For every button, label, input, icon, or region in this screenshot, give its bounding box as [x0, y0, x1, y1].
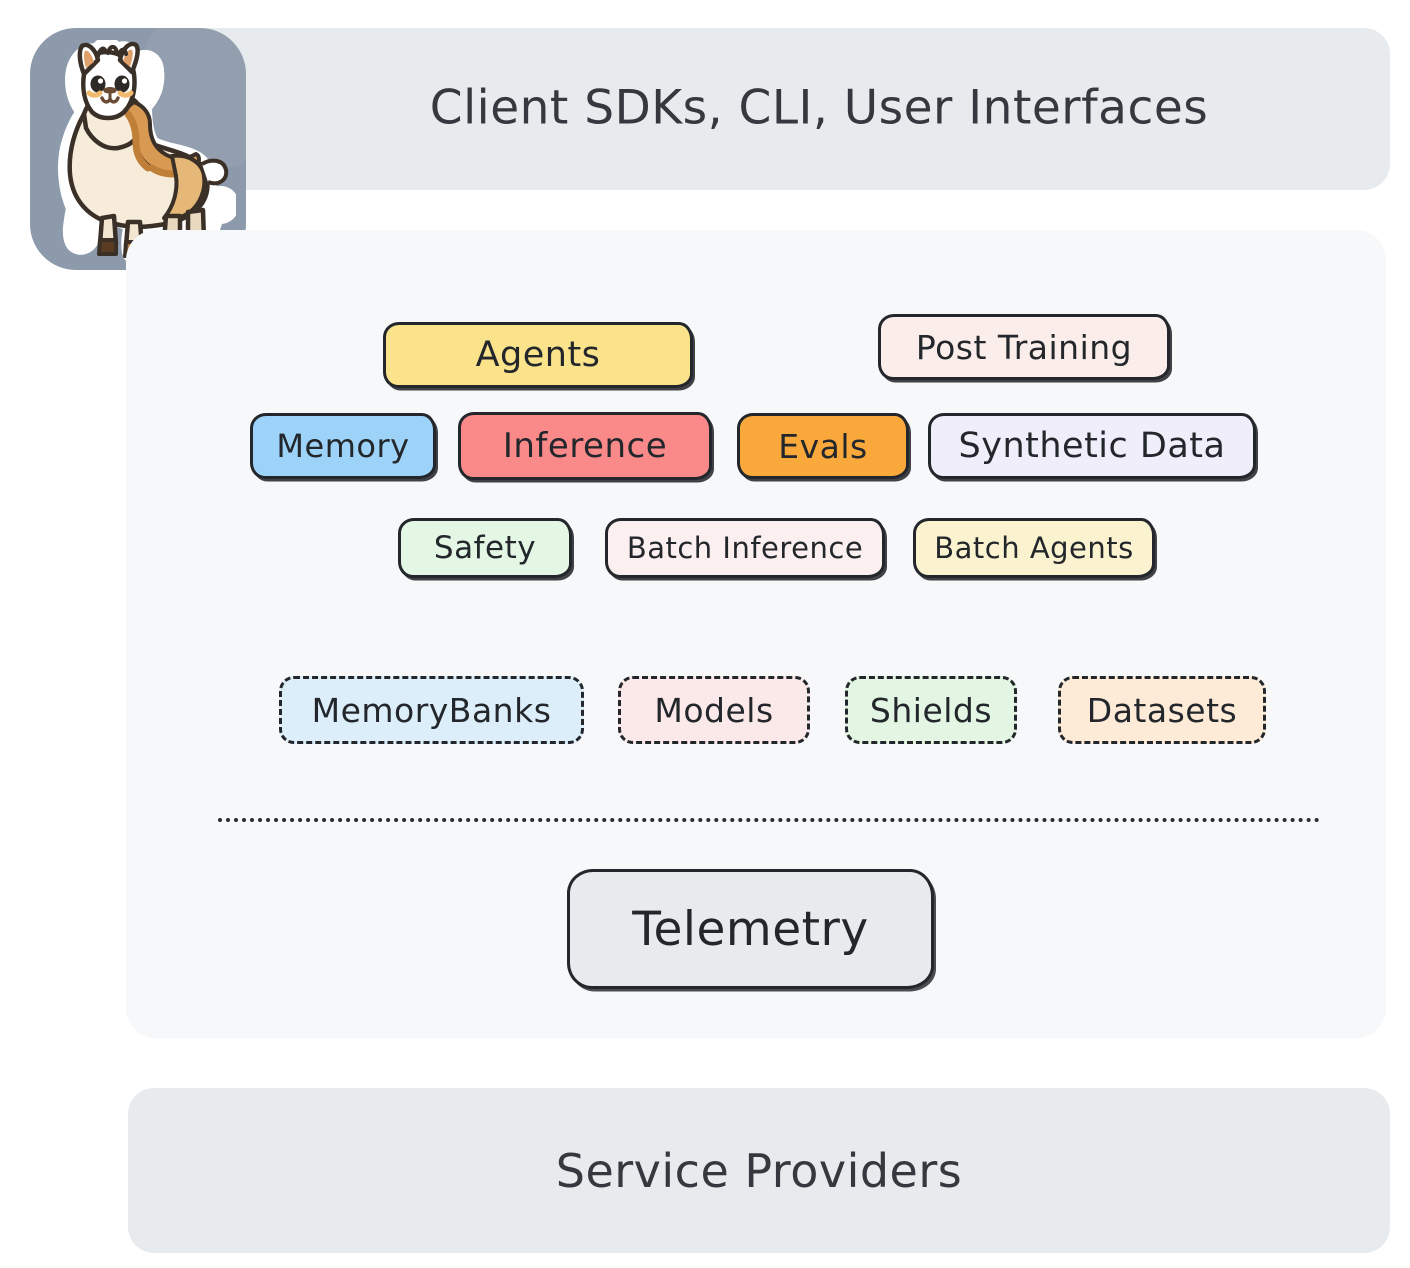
section-divider: [218, 818, 1320, 822]
api-box-batch-agents[interactable]: Batch Agents: [913, 518, 1155, 578]
api-box-synthetic-data-label: Synthetic Data: [959, 426, 1226, 466]
telemetry-label: Telemetry: [632, 902, 868, 957]
telemetry-box[interactable]: Telemetry: [567, 869, 934, 989]
client-interfaces-label: Client SDKs, CLI, User Interfaces: [128, 80, 1390, 135]
api-box-safety-label: Safety: [434, 530, 536, 566]
resource-box-shields[interactable]: Shields: [845, 676, 1017, 744]
resource-box-datasets[interactable]: Datasets: [1058, 676, 1266, 744]
resource-box-shields-label: Shields: [870, 691, 992, 730]
api-box-safety[interactable]: Safety: [398, 518, 572, 578]
api-box-inference-label: Inference: [503, 426, 667, 466]
api-box-batch-inference[interactable]: Batch Inference: [605, 518, 885, 578]
api-box-post-training-label: Post Training: [916, 328, 1132, 367]
api-box-agents-label: Agents: [476, 335, 601, 375]
api-box-memory-label: Memory: [276, 427, 409, 465]
api-box-inference[interactable]: Inference: [458, 412, 712, 480]
llama-icon: [40, 40, 236, 262]
api-box-batch-inference-label: Batch Inference: [627, 531, 863, 565]
resource-box-datasets-label: Datasets: [1087, 691, 1237, 730]
api-box-agents[interactable]: Agents: [383, 322, 693, 388]
api-box-evals-label: Evals: [778, 427, 867, 466]
resource-box-models-label: Models: [654, 691, 773, 730]
resource-box-memorybanks[interactable]: MemoryBanks: [279, 676, 584, 744]
api-box-batch-agents-label: Batch Agents: [934, 531, 1134, 565]
client-interfaces-bar: Client SDKs, CLI, User Interfaces: [128, 28, 1390, 190]
api-box-post-training[interactable]: Post Training: [878, 314, 1170, 380]
api-box-evals[interactable]: Evals: [737, 413, 909, 479]
resource-box-models[interactable]: Models: [618, 676, 810, 744]
api-box-memory[interactable]: Memory: [250, 413, 436, 479]
api-box-synthetic-data[interactable]: Synthetic Data: [928, 413, 1256, 479]
resource-box-memorybanks-label: MemoryBanks: [312, 691, 552, 730]
service-providers-label: Service Providers: [556, 1144, 963, 1198]
service-providers-bar: Service Providers: [128, 1088, 1390, 1253]
